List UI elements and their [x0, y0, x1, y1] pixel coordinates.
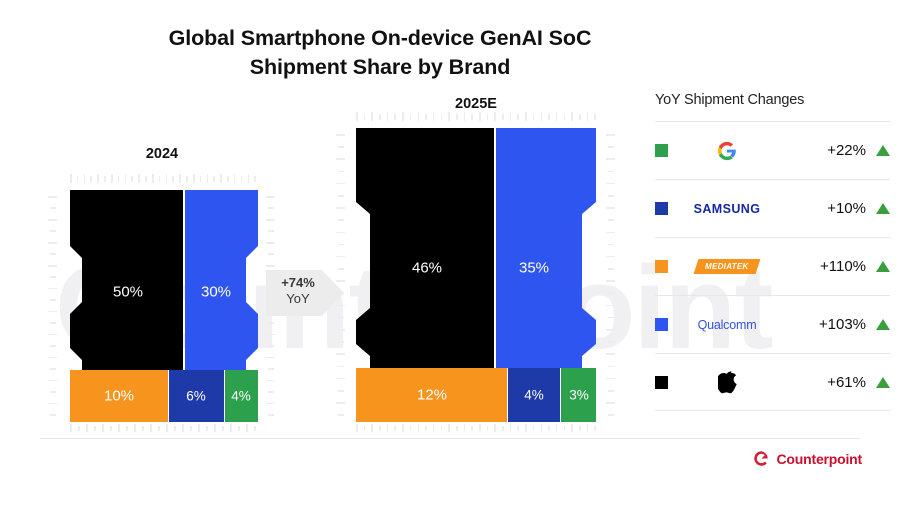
counterpoint-brandmark: Counterpoint: [753, 450, 862, 467]
bar-segment-mediatek-2025e: [356, 368, 507, 422]
bar-segment-google-2025e: [561, 368, 596, 422]
trend-up-icon-samsung: [876, 203, 890, 214]
apple-logo: [684, 371, 770, 394]
bar-segment-apple-2025e: [356, 128, 494, 368]
legend-heading: YoY Shipment Changes: [655, 92, 890, 108]
footer-divider: [40, 438, 860, 439]
samsung-wordmark: SAMSUNG: [694, 202, 761, 216]
column-label-2024: 2024: [66, 146, 258, 162]
counterpoint-logo-icon: [753, 450, 770, 467]
mediatek-wordmark: MEDIATEK: [705, 262, 749, 271]
legend-change-samsung: +10%: [770, 200, 876, 217]
stacked-bar-2024-bottom: [70, 370, 258, 422]
stacked-bar-2025e: [356, 128, 596, 368]
bar-segment-mediatek-2024: [70, 370, 168, 422]
growth-value: +74%: [270, 275, 326, 291]
qualcomm-wordmark: Qualcomm: [698, 318, 757, 332]
bar-segment-apple-2024: [70, 190, 183, 370]
legend-row-samsung[interactable]: SAMSUNG +10%: [655, 179, 890, 237]
mediatek-badge: MEDIATEK: [694, 259, 760, 274]
bar-segment-samsung-2024: [169, 370, 224, 422]
stacked-bar-2025e-bottom: [356, 368, 596, 422]
page-title-line2: Shipment Share by Brand: [0, 53, 760, 82]
legend-change-mediatek: +110%: [770, 258, 876, 275]
legend-swatch-mediatek: [655, 260, 668, 273]
qualcomm-logo: Qualcomm: [684, 318, 770, 332]
bar-segment-samsung-2025e: [508, 368, 560, 422]
legend-swatch-google: [655, 144, 668, 157]
legend-change-google: +22%: [770, 142, 876, 159]
tick-ruler-2024-left: [48, 196, 57, 416]
trend-up-icon-google: [876, 145, 890, 156]
growth-arrow-badge: +74% YoY: [266, 262, 344, 324]
google-logo: [684, 141, 770, 161]
page-title-line1: Global Smartphone On-device GenAI SoC: [0, 24, 760, 53]
legend-row-apple[interactable]: +61%: [655, 353, 890, 411]
growth-arrow-text: +74% YoY: [270, 275, 326, 308]
legend-swatch-qualcomm: [655, 318, 668, 331]
tick-ruler-2025-right: [606, 134, 615, 416]
samsung-logo: SAMSUNG: [684, 202, 770, 216]
bar-segment-qualcomm-2025e: [496, 128, 596, 368]
stacked-bar-2024: [70, 190, 258, 370]
bar-segment-qualcomm-2024: [185, 190, 258, 370]
legend-row-google[interactable]: +22%: [655, 121, 890, 179]
trend-up-icon-apple: [876, 377, 890, 388]
legend-row-mediatek[interactable]: MEDIATEK +110%: [655, 237, 890, 295]
tick-ruler-2024-bottom: [70, 424, 256, 432]
trend-up-icon-qualcomm: [876, 319, 890, 330]
column-label-2025e: 2025E: [352, 96, 600, 112]
bar-segment-google-2024: [225, 370, 258, 422]
legend-change-apple: +61%: [770, 374, 876, 391]
tick-ruler-2025-bottom: [356, 424, 596, 432]
page-title: Global Smartphone On-device GenAI SoC Sh…: [0, 24, 760, 82]
trend-up-icon-mediatek: [876, 261, 890, 272]
legend-swatch-apple: [655, 376, 668, 389]
mediatek-logo: MEDIATEK: [684, 259, 770, 274]
legend-panel: YoY Shipment Changes +22% SAMSUNG +10% M…: [655, 92, 890, 411]
legend-change-qualcomm: +103%: [770, 316, 876, 333]
tick-ruler-2024-top: [70, 174, 256, 183]
legend-swatch-samsung: [655, 202, 668, 215]
counterpoint-wordmark: Counterpoint: [777, 451, 862, 467]
tick-ruler-2025-top: [356, 112, 596, 121]
legend-row-qualcomm[interactable]: Qualcomm +103%: [655, 295, 890, 353]
growth-period: YoY: [270, 291, 326, 307]
